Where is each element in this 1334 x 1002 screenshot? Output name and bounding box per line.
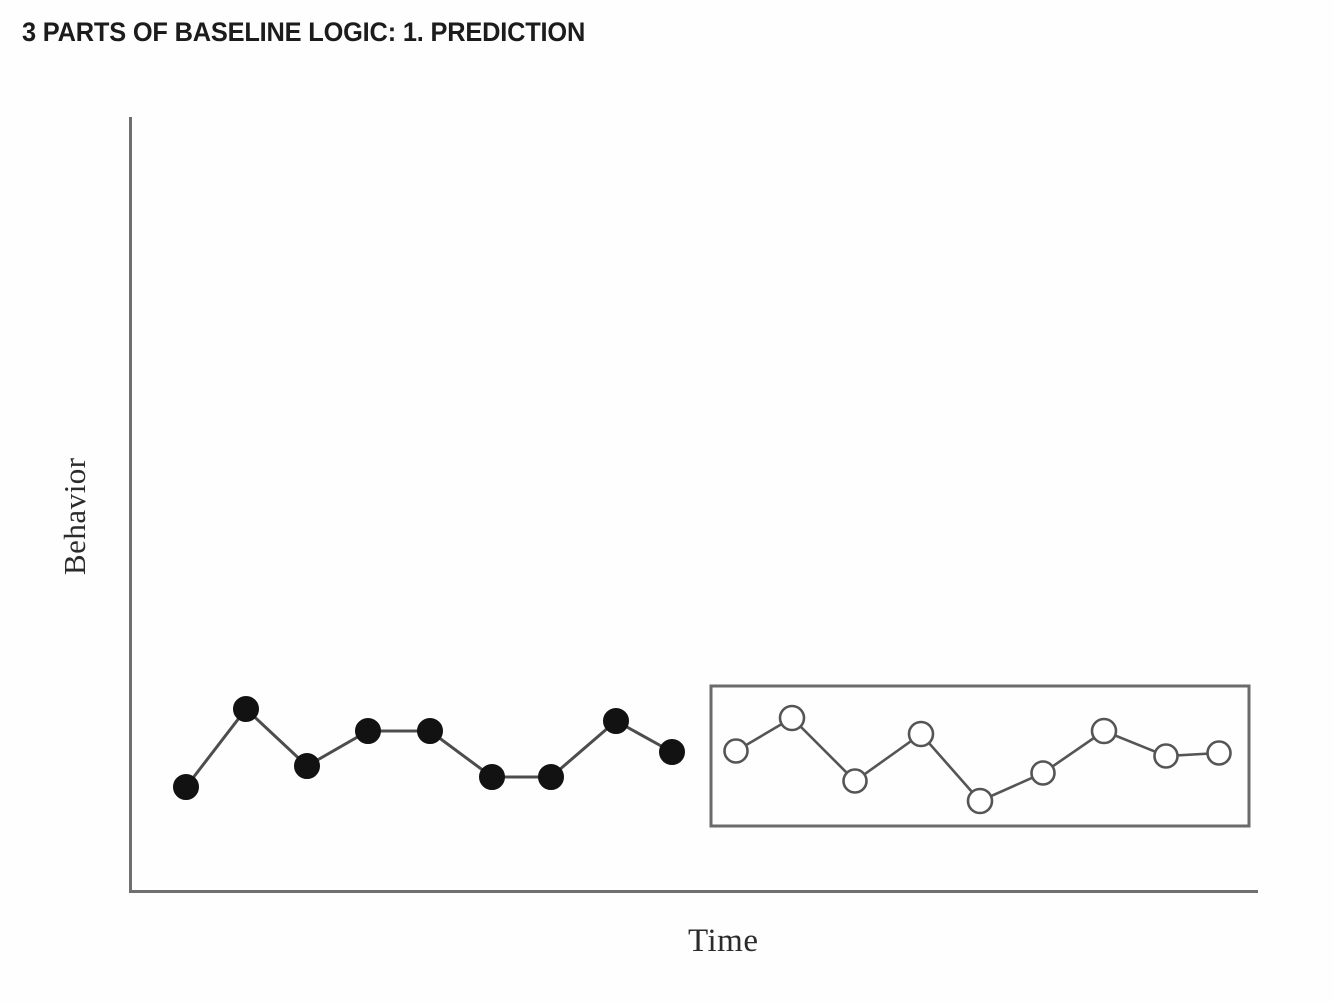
baseline-data-point	[295, 754, 320, 779]
prediction-data-point	[1092, 719, 1116, 743]
chart-axes	[129, 117, 1258, 892]
prediction-data-point	[1032, 762, 1055, 785]
baseline-data-point	[418, 719, 443, 744]
baseline-data-point	[604, 709, 629, 734]
baseline-data-point	[356, 719, 381, 744]
baseline-data-point	[480, 765, 505, 790]
slide-canvas: 3 PARTS OF BASELINE LOGIC: 1. PREDICTION	[0, 0, 1334, 1002]
prediction-data-point	[780, 706, 804, 730]
baseline-data-point	[174, 775, 199, 800]
prediction-data-point	[844, 770, 867, 793]
baseline-data-point	[539, 765, 564, 790]
baseline-logic-chart: Behavior Time	[0, 0, 1334, 1002]
baseline-series	[174, 697, 685, 800]
prediction-data-point	[1208, 742, 1231, 765]
baseline-data-point	[234, 697, 259, 722]
prediction-data-point	[1155, 745, 1178, 768]
prediction-series	[725, 706, 1231, 813]
baseline-data-point	[660, 740, 685, 765]
chart-svg	[0, 0, 1334, 1002]
y-axis-label: Behavior	[57, 457, 93, 575]
x-axis-label: Time	[688, 923, 758, 960]
prediction-data-point	[968, 789, 992, 813]
prediction-data-point	[725, 740, 748, 763]
prediction-data-point	[909, 722, 933, 746]
